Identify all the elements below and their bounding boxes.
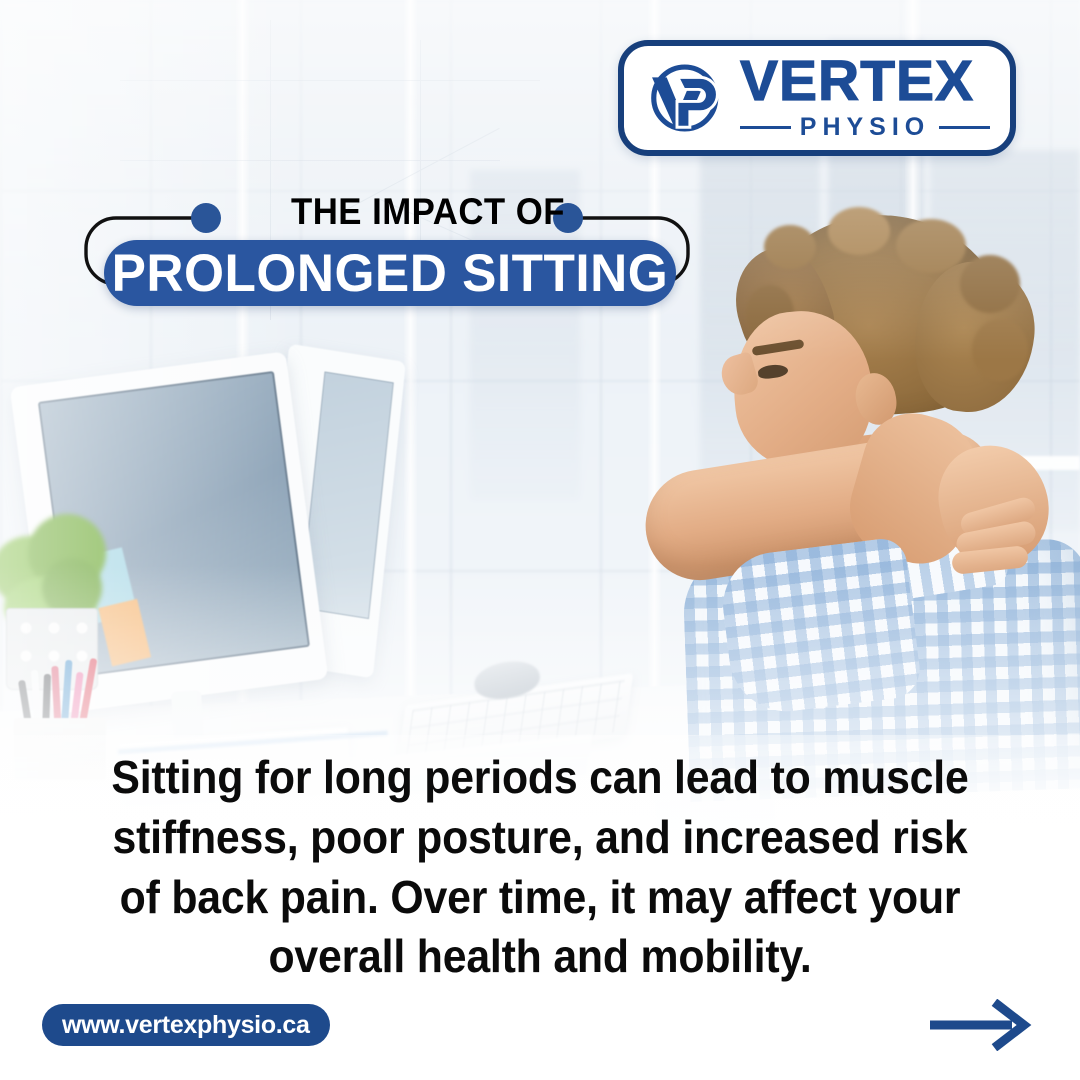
title-headline-pill: PROLONGED SITTING xyxy=(104,240,676,306)
vp-monogram-icon xyxy=(640,55,726,141)
body-paragraph: Sitting for long periods can lead to mus… xyxy=(94,748,987,987)
title-kicker: THE IMPACT OF xyxy=(268,190,588,234)
arrow-right-icon[interactable] xyxy=(926,999,1036,1051)
website-pill[interactable]: www.vertexphysio.ca xyxy=(42,1004,330,1046)
website-url: www.vertexphysio.ca xyxy=(62,1011,310,1040)
logo-rule-left xyxy=(740,126,791,129)
social-media-poster: VERTEX PHYSIO THE IMPACT OF PROLONGED SI… xyxy=(0,0,1080,1080)
bracket-dot-left xyxy=(191,203,221,233)
logo-rule-right xyxy=(939,126,990,129)
title-headline: PROLONGED SITTING xyxy=(112,247,669,300)
logo-subtitle: PHYSIO xyxy=(800,113,930,142)
person-stretching-neck xyxy=(660,215,1080,775)
brand-logo[interactable]: VERTEX PHYSIO xyxy=(618,40,1016,156)
footer-bar: www.vertexphysio.ca xyxy=(0,985,1080,1080)
plant-icon xyxy=(0,500,116,690)
logo-wordmark: VERTEX xyxy=(740,54,990,109)
title-block: THE IMPACT OF PROLONGED SITTING xyxy=(72,190,702,312)
